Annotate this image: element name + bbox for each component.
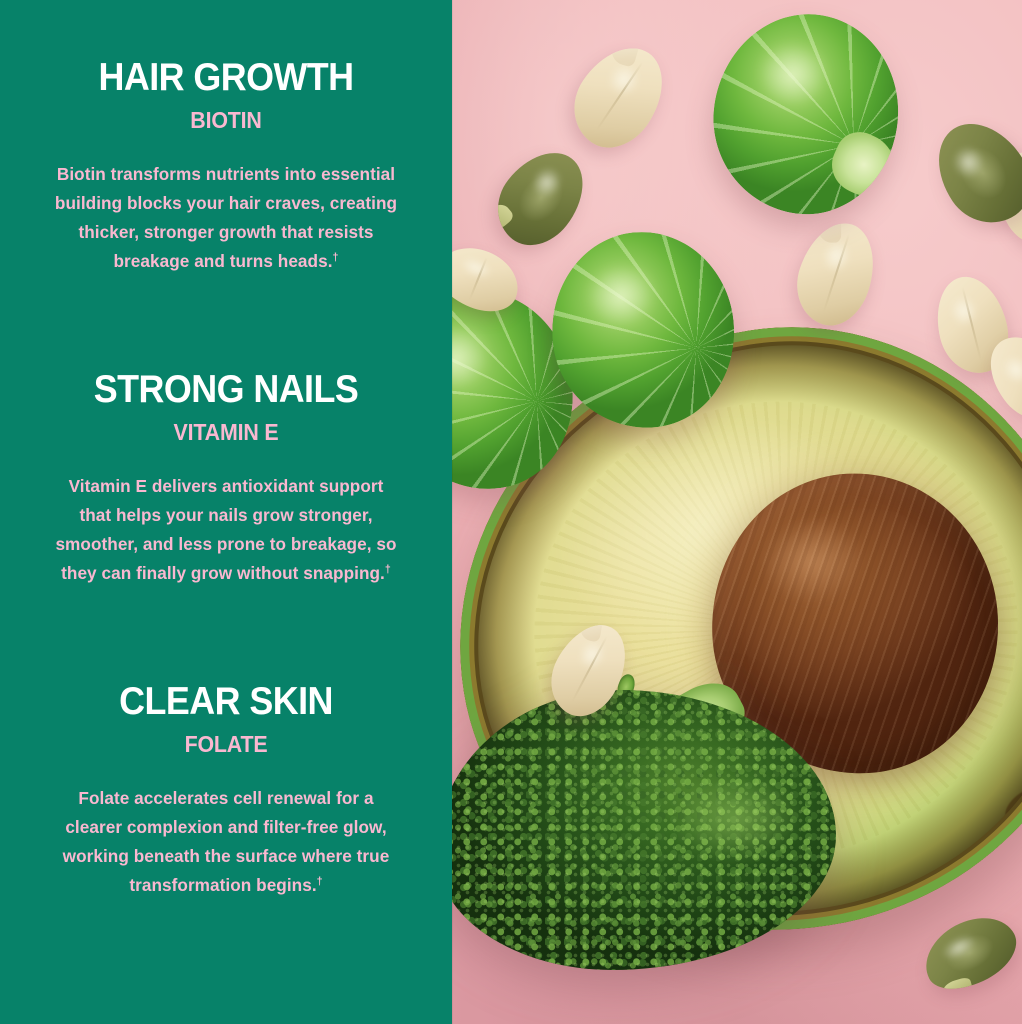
footnote-dagger-strong-nails: † — [385, 563, 391, 575]
broccoli-highlight — [644, 757, 828, 880]
broccoli-head — [452, 690, 836, 970]
benefit-nutrient-folate: FOLATE — [64, 730, 388, 758]
benefit-block-clear-skin: CLEAR SKIN FOLATE Folate accelerates cel… — [0, 680, 452, 900]
pumpkin-seed — [481, 136, 601, 260]
benefit-description-clear-skin: Folate accelerates cell renewal for a cl… — [52, 784, 400, 900]
footnote-dagger-clear-skin: † — [317, 875, 323, 887]
benefit-nutrient-biotin: BIOTIN — [64, 106, 388, 134]
benefit-block-strong-nails: STRONG NAILS VITAMIN E Vitamin E deliver… — [0, 368, 452, 588]
footnote-dagger-hair-growth: † — [333, 251, 339, 263]
benefit-title-clear-skin: CLEAR SKIN — [66, 680, 386, 724]
benefit-title-strong-nails: STRONG NAILS — [66, 368, 386, 412]
benefits-text-panel: HAIR GROWTH BIOTIN Biotin transforms nut… — [0, 0, 452, 1024]
brussels-sprout — [701, 2, 911, 226]
sunflower-seed — [557, 31, 681, 162]
ingredient-photo-panel — [452, 0, 1022, 1024]
benefit-description-hair-growth: Biotin transforms nutrients into essenti… — [52, 160, 400, 276]
benefit-title-hair-growth: HAIR GROWTH — [66, 56, 386, 100]
pumpkin-seed — [913, 903, 1022, 1003]
benefit-description-text-clear-skin: Folate accelerates cell renewal for a cl… — [63, 788, 390, 895]
sunflower-seed — [786, 213, 887, 334]
benefit-description-text-hair-growth: Biotin transforms nutrients into essenti… — [55, 164, 397, 271]
broccoli-floret — [452, 664, 856, 994]
benefits-poster: HAIR GROWTH BIOTIN Biotin transforms nut… — [0, 0, 1022, 1024]
benefit-description-strong-nails: Vitamin E delivers antioxidant support t… — [52, 472, 400, 588]
seed-highlight — [593, 49, 654, 111]
benefit-nutrient-vitamin-e: VITAMIN E — [64, 418, 388, 446]
benefit-block-hair-growth: HAIR GROWTH BIOTIN Biotin transforms nut… — [0, 56, 452, 276]
benefit-description-text-strong-nails: Vitamin E delivers antioxidant support t… — [55, 476, 396, 583]
seed-tip — [941, 977, 973, 1000]
seed-highlight — [989, 343, 1022, 397]
pumpkin-seed — [919, 106, 1022, 240]
